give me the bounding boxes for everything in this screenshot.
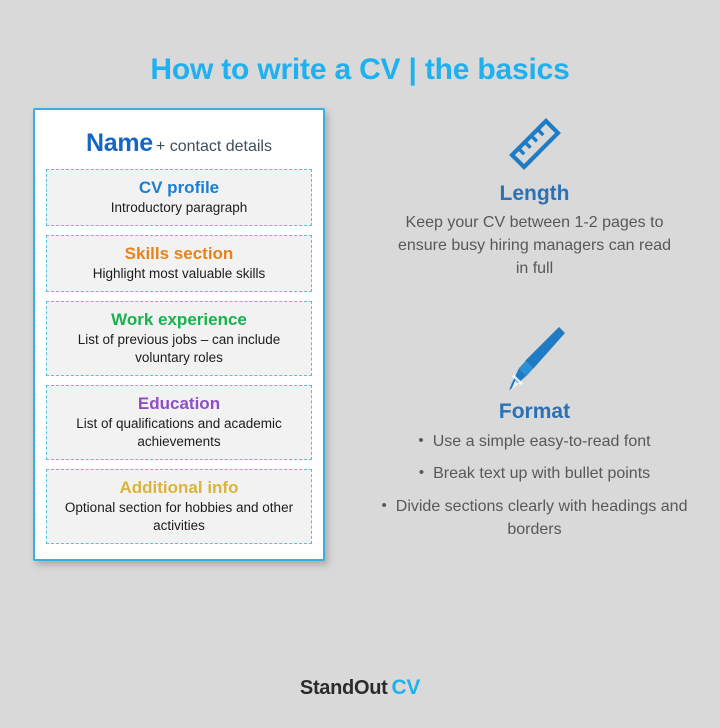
cv-section-profile: CV profile Introductory paragraph [46,169,312,226]
logo-cv-text: CV [392,676,421,699]
infographic-page: How to write a CV | the basics Name+ con… [0,20,720,728]
ruler-icon [504,113,566,175]
ruler-icon-wrap [367,108,702,180]
logo-standout-text: StandOut [300,677,388,699]
list-item-text: Divide sections clearly with headings an… [396,498,688,538]
list-item-text: Use a simple easy-to-read font [433,433,651,450]
cv-section-title: Work experience [53,309,305,330]
list-item: •Break text up with bullet points [367,462,702,485]
list-item-text: Break text up with bullet points [433,465,650,482]
cv-structure-column: Name+ contact details CV profile Introdu… [33,108,325,561]
cv-section-description: List of qualifications and academic achi… [53,415,305,451]
page-title: How to write a CV | the basics [0,20,720,86]
cv-contact-details-label: + contact details [156,138,272,155]
format-title: Format [367,400,702,424]
cv-section-additional-info: Additional info Optional section for hob… [46,469,312,544]
length-title: Length [367,182,702,206]
cv-section-title: Additional info [53,477,305,498]
cv-section-title: Education [53,393,305,414]
length-block: Length Keep your CV between 1-2 pages to… [367,108,702,280]
cv-section-description: Introductory paragraph [53,199,305,217]
bullet-icon: • [418,430,423,452]
cv-section-work-experience: Work experience List of previous jobs – … [46,301,312,376]
list-item: •Use a simple easy-to-read font [367,430,702,453]
pen-icon-wrap [367,320,702,398]
cv-section-description: Optional section for hobbies and other a… [53,499,305,535]
content-columns: Name+ contact details CV profile Introdu… [0,108,720,561]
cv-name-label: Name [86,129,153,157]
cv-card: Name+ contact details CV profile Introdu… [33,108,325,561]
length-body: Keep your CV between 1-2 pages to ensure… [367,212,702,280]
cv-section-education: Education List of qualifications and aca… [46,385,312,460]
bullet-icon: • [382,495,387,517]
tips-column: Length Keep your CV between 1-2 pages to… [367,108,702,547]
cv-name-row: Name+ contact details [46,122,312,169]
list-item: •Divide sections clearly with headings a… [367,495,702,541]
cv-section-title: Skills section [53,243,305,264]
bullet-icon: • [419,462,424,484]
footer-logo: StandOutCV [0,676,720,700]
format-block: Format •Use a simple easy-to-read font •… [367,320,702,541]
cv-section-skills: Skills section Highlight most valuable s… [46,235,312,292]
cv-section-description: Highlight most valuable skills [53,265,305,283]
cv-section-title: CV profile [53,177,305,198]
cv-section-description: List of previous jobs – can include volu… [53,331,305,367]
fountain-pen-icon [502,324,568,394]
format-bullet-list: •Use a simple easy-to-read font •Break t… [367,430,702,541]
